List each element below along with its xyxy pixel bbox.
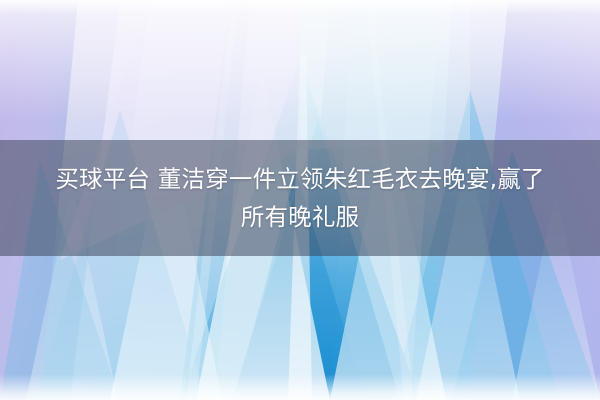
caption-title-text: 买球平台 董洁穿一件立领朱红毛衣去晚宴,赢了 所有晚礼服 [20, 160, 580, 236]
caption-band: 买球平台 董洁穿一件立领朱红毛衣去晚宴,赢了 所有晚礼服 [0, 140, 600, 256]
image-canvas: 买球平台 董洁穿一件立领朱红毛衣去晚宴,赢了 所有晚礼服 [0, 0, 600, 400]
